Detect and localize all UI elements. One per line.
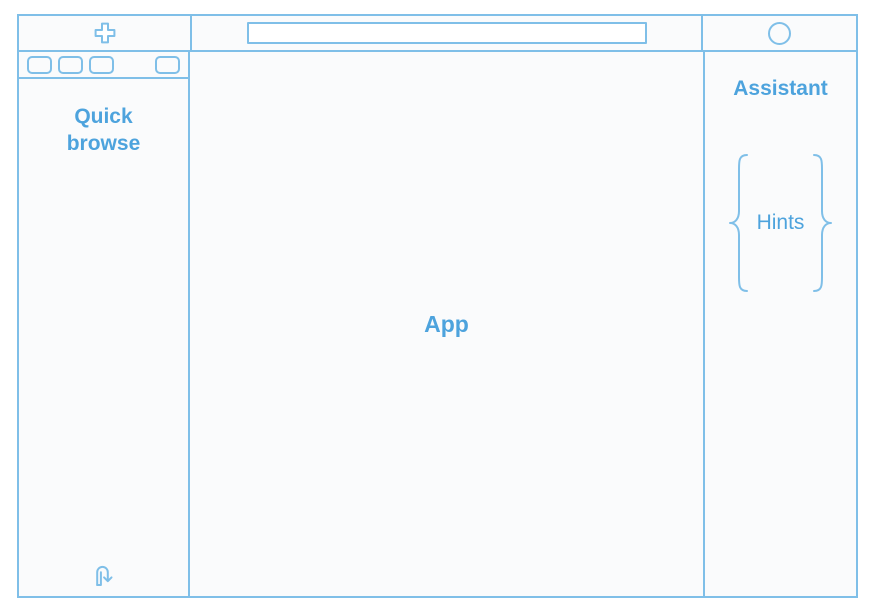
add-icon[interactable] — [94, 22, 116, 44]
title-bar-center-segment — [192, 16, 701, 50]
u-turn-arrow-icon[interactable] — [91, 562, 117, 588]
app-label: App — [424, 311, 469, 338]
toolbar-button-2[interactable] — [58, 56, 83, 74]
toolbar-button-1[interactable] — [27, 56, 52, 74]
wireframe-window: Quick browse App Assistant — [17, 14, 858, 598]
title-bar-left-segment — [19, 16, 192, 50]
title-bar-right-segment — [701, 16, 856, 50]
assistant-panel: Assistant Hints — [703, 52, 856, 596]
toolbar-button-3[interactable] — [89, 56, 114, 74]
title-bar — [19, 16, 856, 52]
hints-block: Hints — [705, 153, 856, 293]
assistant-title: Assistant — [733, 77, 828, 101]
sidebar-title: Quick browse — [19, 103, 188, 158]
app-content-region[interactable]: App — [190, 52, 703, 596]
sidebar-content: Quick browse — [19, 79, 188, 596]
right-brace-icon — [808, 153, 834, 293]
sidebar-toolbar — [19, 52, 188, 79]
toolbar-button-right[interactable] — [155, 56, 180, 74]
circle-avatar-icon[interactable] — [768, 22, 791, 45]
left-brace-icon — [727, 153, 753, 293]
sidebar: Quick browse — [19, 52, 190, 596]
search-input[interactable] — [247, 22, 647, 44]
sidebar-footer — [19, 562, 188, 588]
window-body: Quick browse App Assistant — [19, 52, 856, 596]
hints-label: Hints — [753, 211, 809, 235]
